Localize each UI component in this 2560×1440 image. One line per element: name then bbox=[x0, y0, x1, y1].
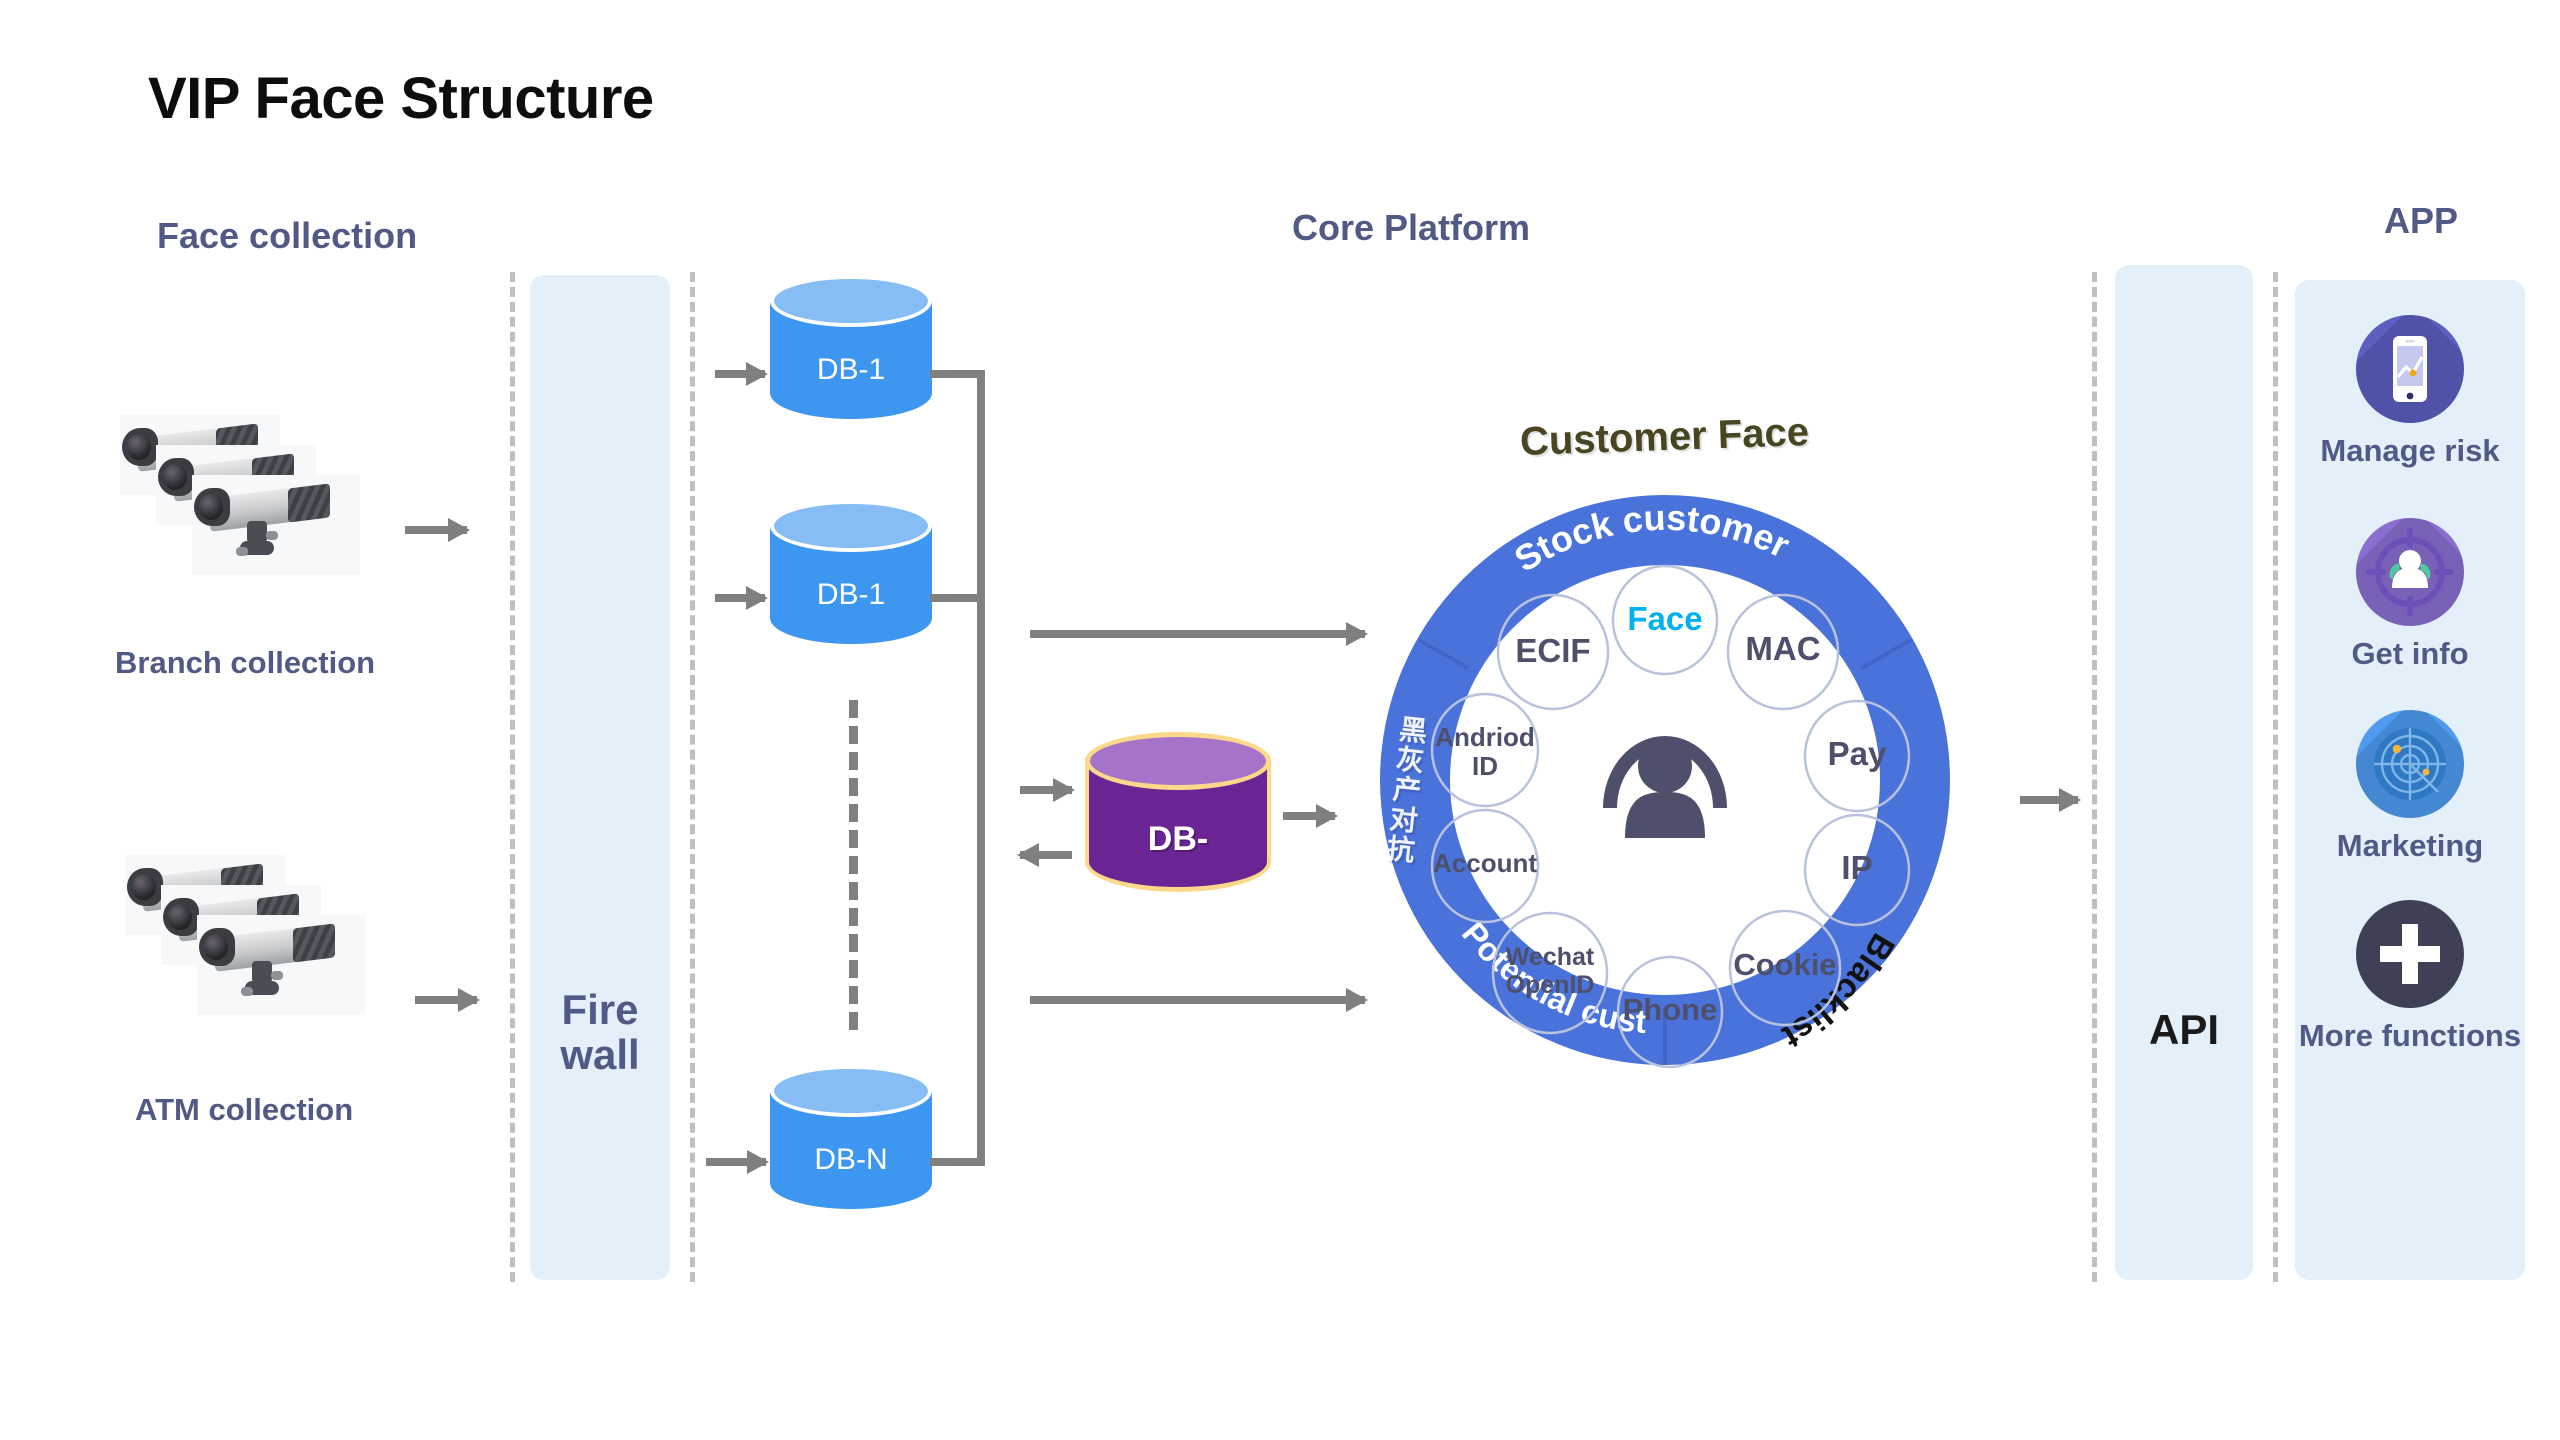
wechat-openid-line-1: Wechat bbox=[1506, 943, 1594, 971]
atm-camera-stack bbox=[125, 855, 355, 1005]
wechat-openid-line-2: OpenID bbox=[1506, 971, 1595, 999]
branch-collection-label: Branch collection bbox=[115, 645, 375, 681]
section-heading-app: APP bbox=[2384, 200, 2458, 242]
app-item-manage-risk[interactable]: Manage risk bbox=[2295, 315, 2525, 471]
arrow-central-db-to-core bbox=[1283, 812, 1335, 820]
central-database-label: DB- bbox=[1085, 820, 1271, 859]
api-label: API bbox=[2115, 1007, 2253, 1052]
page-title: VIP Face Structure bbox=[148, 65, 654, 132]
divider-left bbox=[510, 272, 515, 1282]
radar-icon bbox=[2356, 710, 2464, 818]
app-item-label: Marketing bbox=[2295, 826, 2525, 866]
mobile-chart-icon bbox=[2356, 315, 2464, 423]
security-camera-icon bbox=[192, 475, 360, 575]
divider-api-left bbox=[2092, 272, 2097, 1282]
core-circle-heading: Customer Face bbox=[1519, 410, 1809, 465]
app-item-label: Manage risk bbox=[2295, 431, 2525, 471]
arrow-atm-to-firewall bbox=[415, 996, 477, 1004]
arrow-from-central-db-back bbox=[1020, 851, 1072, 859]
arrow-branch-to-firewall bbox=[405, 526, 467, 534]
attribute-label-account: Account bbox=[1425, 848, 1545, 879]
attribute-label-mac: MAC bbox=[1726, 630, 1840, 668]
database-ellipsis-dashed bbox=[849, 700, 858, 1030]
firewall-label: Fire wall bbox=[530, 987, 670, 1078]
database-db-n: DB-N bbox=[770, 1065, 932, 1210]
api-panel: API bbox=[2115, 265, 2253, 1280]
attribute-label-pay: Pay bbox=[1803, 735, 1911, 773]
arrow-to-core-bottom bbox=[1030, 996, 1365, 1004]
database-label: DB-1 bbox=[770, 353, 932, 387]
firewall-line-1: Fire bbox=[530, 987, 670, 1032]
attribute-label-wechat-openid: Wechat OpenID bbox=[1488, 943, 1612, 999]
arrow-core-to-api bbox=[2020, 796, 2078, 804]
database-label: DB-N bbox=[770, 1143, 932, 1177]
andriod-id-line-2: ID bbox=[1472, 751, 1498, 781]
section-heading-face-collection: Face collection bbox=[157, 215, 417, 257]
section-heading-core-platform: Core Platform bbox=[1292, 207, 1530, 249]
database-db-1-b: DB-1 bbox=[770, 500, 932, 645]
arrow-to-core-top bbox=[1030, 630, 1365, 638]
attribute-label-phone: Phone bbox=[1602, 992, 1738, 1028]
arrow-firewall-to-dbn bbox=[706, 1158, 766, 1166]
security-camera-icon bbox=[197, 915, 365, 1015]
arrow-to-central-db bbox=[1020, 786, 1072, 794]
atm-collection-label: ATM collection bbox=[135, 1092, 353, 1128]
attribute-label-andriod-id: Andriod ID bbox=[1423, 723, 1547, 780]
plus-circle-icon bbox=[2356, 900, 2464, 1008]
app-item-more-functions[interactable]: More functions bbox=[2295, 900, 2525, 1056]
divider-api-right bbox=[2273, 272, 2278, 1282]
firewall-line-2: wall bbox=[530, 1032, 670, 1077]
app-item-marketing[interactable]: Marketing bbox=[2295, 710, 2525, 866]
branch-camera-stack bbox=[120, 415, 350, 565]
attribute-label-face: Face bbox=[1613, 600, 1717, 638]
customer-face-circle: Stock customer Blacklist Potential custo… bbox=[1345, 460, 1985, 1100]
attribute-label-ecif: ECIF bbox=[1497, 632, 1609, 670]
app-item-get-info[interactable]: Get info bbox=[2295, 518, 2525, 674]
connector-vertical-bus bbox=[977, 370, 985, 1166]
app-item-label: More functions bbox=[2295, 1016, 2525, 1056]
arrow-firewall-to-db1b bbox=[715, 594, 765, 602]
divider-firewall-right bbox=[690, 272, 695, 1282]
attribute-label-cookie: Cookie bbox=[1718, 947, 1852, 983]
firewall-panel: Fire wall bbox=[530, 275, 670, 1280]
app-item-label: Get info bbox=[2295, 634, 2525, 674]
database-db-1-a: DB-1 bbox=[770, 275, 932, 420]
arrow-firewall-to-db1a bbox=[715, 370, 765, 378]
andriod-id-line-1: Andriod bbox=[1435, 722, 1535, 752]
central-database: DB- bbox=[1085, 732, 1271, 902]
attribute-label-ip: IP bbox=[1803, 849, 1911, 887]
target-person-icon bbox=[2356, 518, 2464, 626]
database-label: DB-1 bbox=[770, 578, 932, 612]
